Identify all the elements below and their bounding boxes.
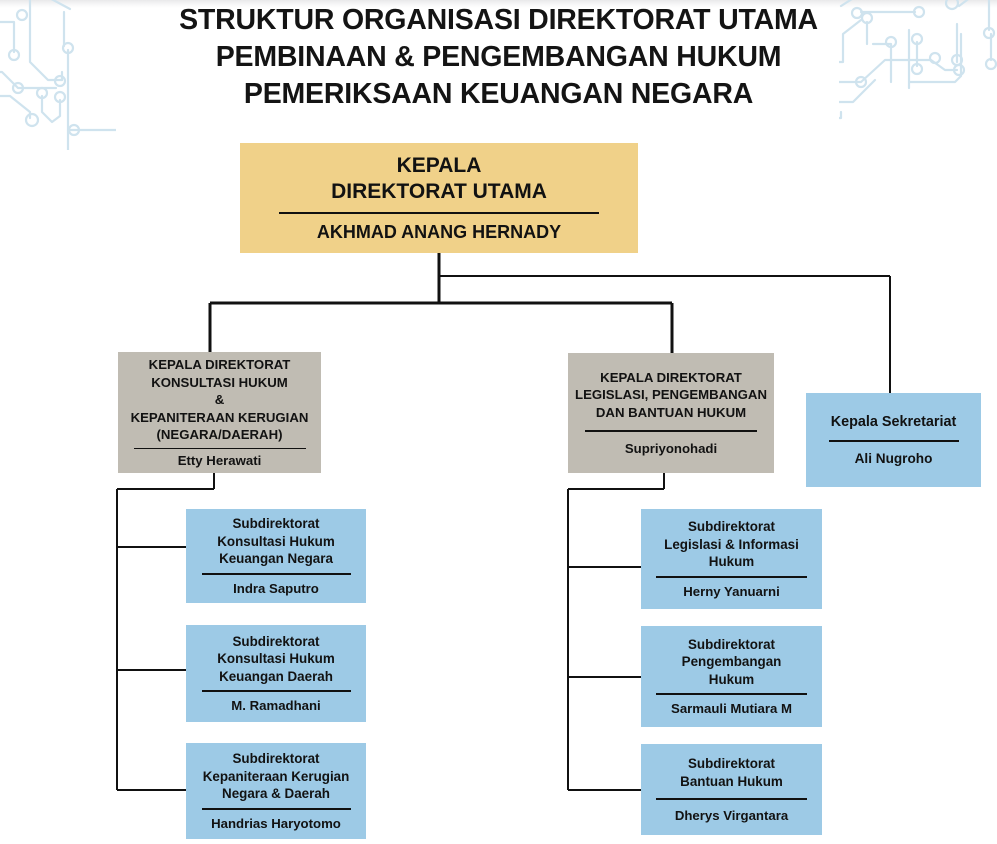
node-role-line: DIREKTORAT UTAMA [331,179,547,205]
node-role-line: KEPANITERAAN KERUGIAN [131,409,309,427]
node-role-line: DAN BANTUAN HUKUM [596,404,746,422]
node-role-line: KEPALA [397,153,482,179]
node-role-line: Konsultasi Hukum [217,533,335,551]
node-role-line: Bantuan Hukum [680,773,783,791]
node-divider [202,690,351,692]
node-role-line: & [215,391,225,409]
node-person-name: Dherys Virgantara [675,807,788,824]
node-subdirektorat-kepaniteraan-kerugian[interactable]: Subdirektorat Kepaniteraan Kerugian Nega… [186,743,366,839]
node-divider [656,576,807,578]
node-role-line: Hukum [709,671,754,689]
node-divider [202,573,351,575]
node-role-line: KEPALA DIREKTORAT [600,369,742,387]
node-subdirektorat-konsultasi-hukum-keuangan-negara[interactable]: Subdirektorat Konsultasi Hukum Keuangan … [186,509,366,603]
node-person-name: M. Ramadhani [231,697,320,714]
node-direktorat-konsultasi-hukum[interactable]: KEPALA DIREKTORAT KONSULTASI HUKUM & KEP… [118,352,321,473]
node-role-line: Keuangan Negara [219,550,333,568]
node-divider [279,212,599,215]
org-chart-page: STRUKTUR ORGANISASI DIREKTORAT UTAMA PEM… [0,0,997,844]
node-person-name: AKHMAD ANANG HERNADY [317,221,561,243]
node-person-name: Ali Nugroho [855,450,933,467]
node-person-name: Etty Herawati [178,452,262,469]
node-role-line: Subdirektorat [232,633,319,651]
node-role-line: Legislasi & Informasi [664,536,799,554]
node-subdirektorat-bantuan-hukum[interactable]: Subdirektorat Bantuan Hukum Dherys Virga… [641,744,822,835]
node-divider [656,798,807,800]
node-kepala-direktorat-utama[interactable]: KEPALA DIREKTORAT UTAMA AKHMAD ANANG HER… [240,143,638,253]
node-role-line: Hukum [709,553,754,571]
node-divider [656,693,807,695]
node-role-line: Kepala Sekretariat [831,413,957,432]
node-role-line: LEGISLASI, PENGEMBANGAN [575,386,767,404]
node-role-line: Negara & Daerah [222,785,330,803]
node-role-line: (NEGARA/DAERAH) [156,426,282,444]
node-subdirektorat-legislasi-informasi-hukum[interactable]: Subdirektorat Legislasi & Informasi Huku… [641,509,822,609]
node-role-line: Kepaniteraan Kerugian [203,768,350,786]
node-person-name: Herny Yanuarni [683,583,780,600]
node-divider [202,808,351,810]
node-role-line: Subdirektorat [688,636,775,654]
node-person-name: Handrias Haryotomo [211,815,341,832]
node-role-line: Keuangan Daerah [219,668,333,686]
node-role-line: KEPALA DIREKTORAT [149,356,291,374]
node-role-line: Subdirektorat [232,750,319,768]
node-role-line: Pengembangan [682,653,782,671]
node-subdirektorat-konsultasi-hukum-keuangan-daerah[interactable]: Subdirektorat Konsultasi Hukum Keuangan … [186,625,366,722]
node-divider [134,448,306,450]
node-subdirektorat-pengembangan-hukum[interactable]: Subdirektorat Pengembangan Hukum Sarmaul… [641,626,822,727]
node-direktorat-legislasi[interactable]: KEPALA DIREKTORAT LEGISLASI, PENGEMBANGA… [568,353,774,473]
node-role-line: Subdirektorat [232,515,319,533]
node-role-line: Subdirektorat [688,755,775,773]
node-person-name: Supriyonohadi [625,440,717,457]
node-role-line: Konsultasi Hukum [217,650,335,668]
node-divider [585,430,757,432]
node-person-name: Indra Saputro [233,580,319,597]
node-kepala-sekretariat[interactable]: Kepala Sekretariat Ali Nugroho [806,393,981,487]
node-role-line: Subdirektorat [688,518,775,536]
node-person-name: Sarmauli Mutiara M [671,700,792,717]
node-role-line: KONSULTASI HUKUM [151,374,288,392]
node-divider [829,440,959,442]
